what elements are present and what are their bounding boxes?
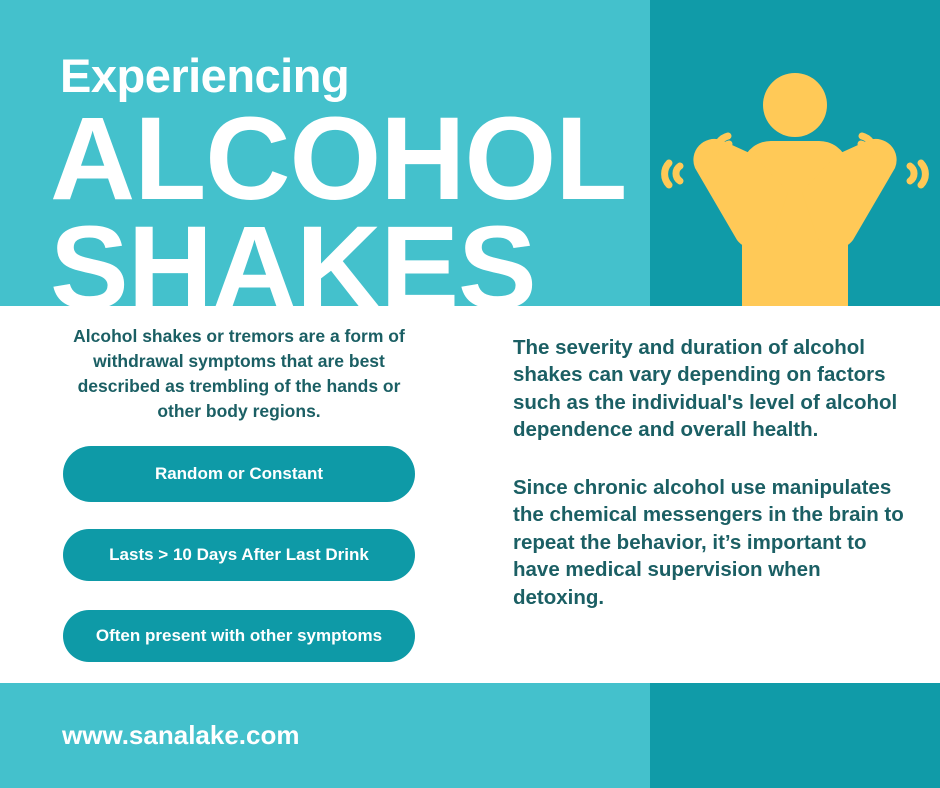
header-text-container: Experiencing ALCOHOL SHAKES <box>0 0 650 306</box>
severity-paragraph: The severity and duration of alcohol sha… <box>513 334 913 444</box>
header-band: Experiencing ALCOHOL SHAKES <box>0 0 940 306</box>
left-column: Alcohol shakes or tremors are a form of … <box>63 324 415 662</box>
figure-head <box>763 73 827 137</box>
detox-paragraph: Since chronic alcohol use manipulates th… <box>513 474 913 611</box>
shaking-person-illustration <box>650 0 940 306</box>
headline-line-2: SHAKES <box>50 214 626 306</box>
headline-line-1: ALCOHOL <box>50 105 626 214</box>
website-url[interactable]: www.sanalake.com <box>62 683 299 788</box>
header-kicker: Experiencing <box>60 52 349 99</box>
symptom-pill-list: Random or Constant Lasts > 10 Days After… <box>63 446 415 662</box>
shake-arc-left-outer <box>665 163 669 185</box>
page-title: ALCOHOL SHAKES <box>50 105 626 306</box>
shake-arc-right-outer <box>921 163 925 185</box>
footer-right-color-block <box>650 683 940 788</box>
infographic-poster: Experiencing ALCOHOL SHAKES <box>0 0 940 788</box>
symptom-pill-duration[interactable]: Lasts > 10 Days After Last Drink <box>63 529 415 581</box>
footer-band: www.sanalake.com <box>0 683 940 788</box>
right-column: The severity and duration of alcohol sha… <box>513 334 913 611</box>
symptom-pill-random-or-constant[interactable]: Random or Constant <box>63 446 415 502</box>
shake-arc-right-inner <box>910 166 914 181</box>
intro-paragraph: Alcohol shakes or tremors are a form of … <box>63 324 415 423</box>
body-area: Alcohol shakes or tremors are a form of … <box>0 306 940 683</box>
symptom-pill-other-symptoms[interactable]: Often present with other symptoms <box>63 610 415 662</box>
shake-arc-left-inner <box>676 166 680 181</box>
